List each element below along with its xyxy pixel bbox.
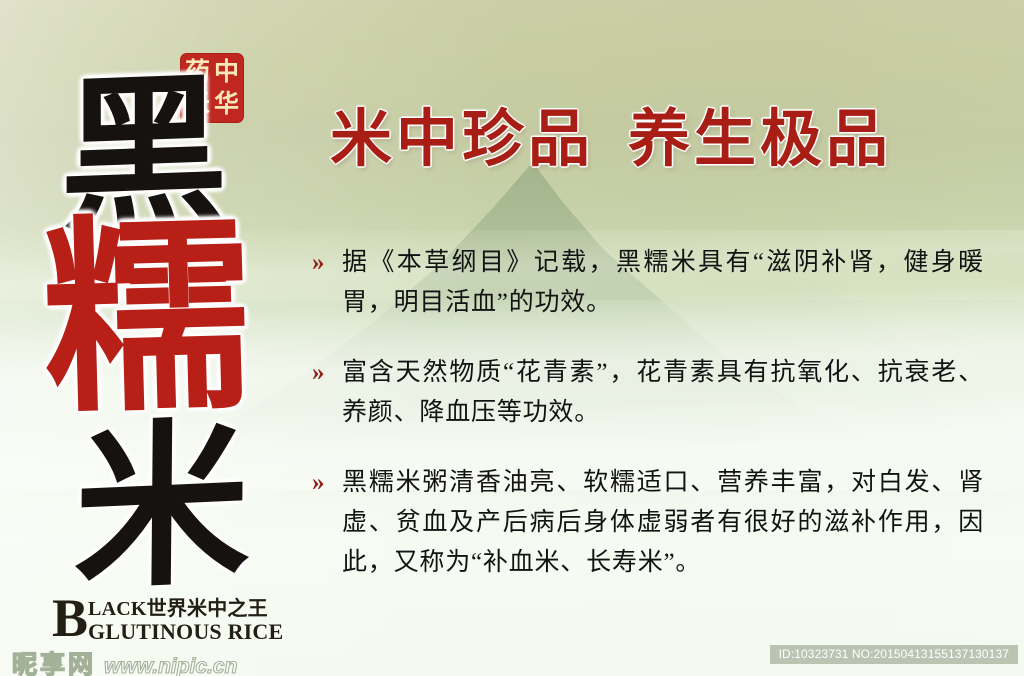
poster-canvas: 药 中 米 华 黑 糯 米 B LACK世界米中之王 GLUTINOUS RIC… <box>0 0 1024 676</box>
chevron-double-right-icon: » <box>312 463 342 503</box>
headline-part-1: 米中珍品 <box>330 106 594 174</box>
headline-part-2: 养生极品 <box>628 106 892 174</box>
chevron-double-right-icon: » <box>312 353 342 393</box>
bullet-text-1: 据《本草纲目》记载，黑糯米具有“滋阴补肾，健身暖胃，明目活血”的功效。 <box>342 243 984 323</box>
calligraphy-char-mi: 米 <box>73 418 250 602</box>
calligraphy-char-nuo: 糯 <box>39 213 252 426</box>
brand-dropcap: B <box>52 596 87 640</box>
brand-lines: LACK世界米中之王 GLUTINOUS RICE <box>88 596 283 644</box>
asset-id-badge: ID:10323731 NO:20150413155137130137 <box>770 645 1018 664</box>
bullet-text-3: 黑糯米粥清香油亮、软糯适口、营养丰富，对白发、肾虚、贫血及产后病后身体虚弱者有很… <box>342 463 984 583</box>
product-name-calligraphy: 黑 糯 米 <box>34 74 284 594</box>
bullet-item: » 据《本草纲目》记载，黑糯米具有“滋阴补肾，健身暖胃，明目活血”的功效。 <box>312 243 984 323</box>
brand-lockup: B LACK世界米中之王 GLUTINOUS RICE <box>52 596 283 644</box>
bullet-item: » 黑糯米粥清香油亮、软糯适口、营养丰富，对白发、肾虚、贫血及产后病后身体虚弱者… <box>312 463 984 583</box>
brand-line-primary: LACK世界米中之王 <box>88 599 283 620</box>
bullet-item: » 富含天然物质“花青素”，花青素具有抗氧化、抗衰老、养颜、降血压等功效。 <box>312 353 984 433</box>
brand-line-secondary: GLUTINOUS RICE <box>88 620 283 643</box>
bullet-list: » 据《本草纲目》记载，黑糯米具有“滋阴补肾，健身暖胃，明目活血”的功效。 » … <box>312 243 984 613</box>
site-watermark-url: www.nipic.cn <box>104 655 237 676</box>
headline: 米中珍品养生极品 <box>330 88 892 178</box>
site-watermark-name: 昵享网 <box>12 645 96 676</box>
site-watermark: 昵享网 www.nipic.cn <box>12 645 237 676</box>
bullet-text-2: 富含天然物质“花青素”，花青素具有抗氧化、抗衰老、养颜、降血压等功效。 <box>342 353 984 433</box>
chevron-double-right-icon: » <box>312 243 342 283</box>
